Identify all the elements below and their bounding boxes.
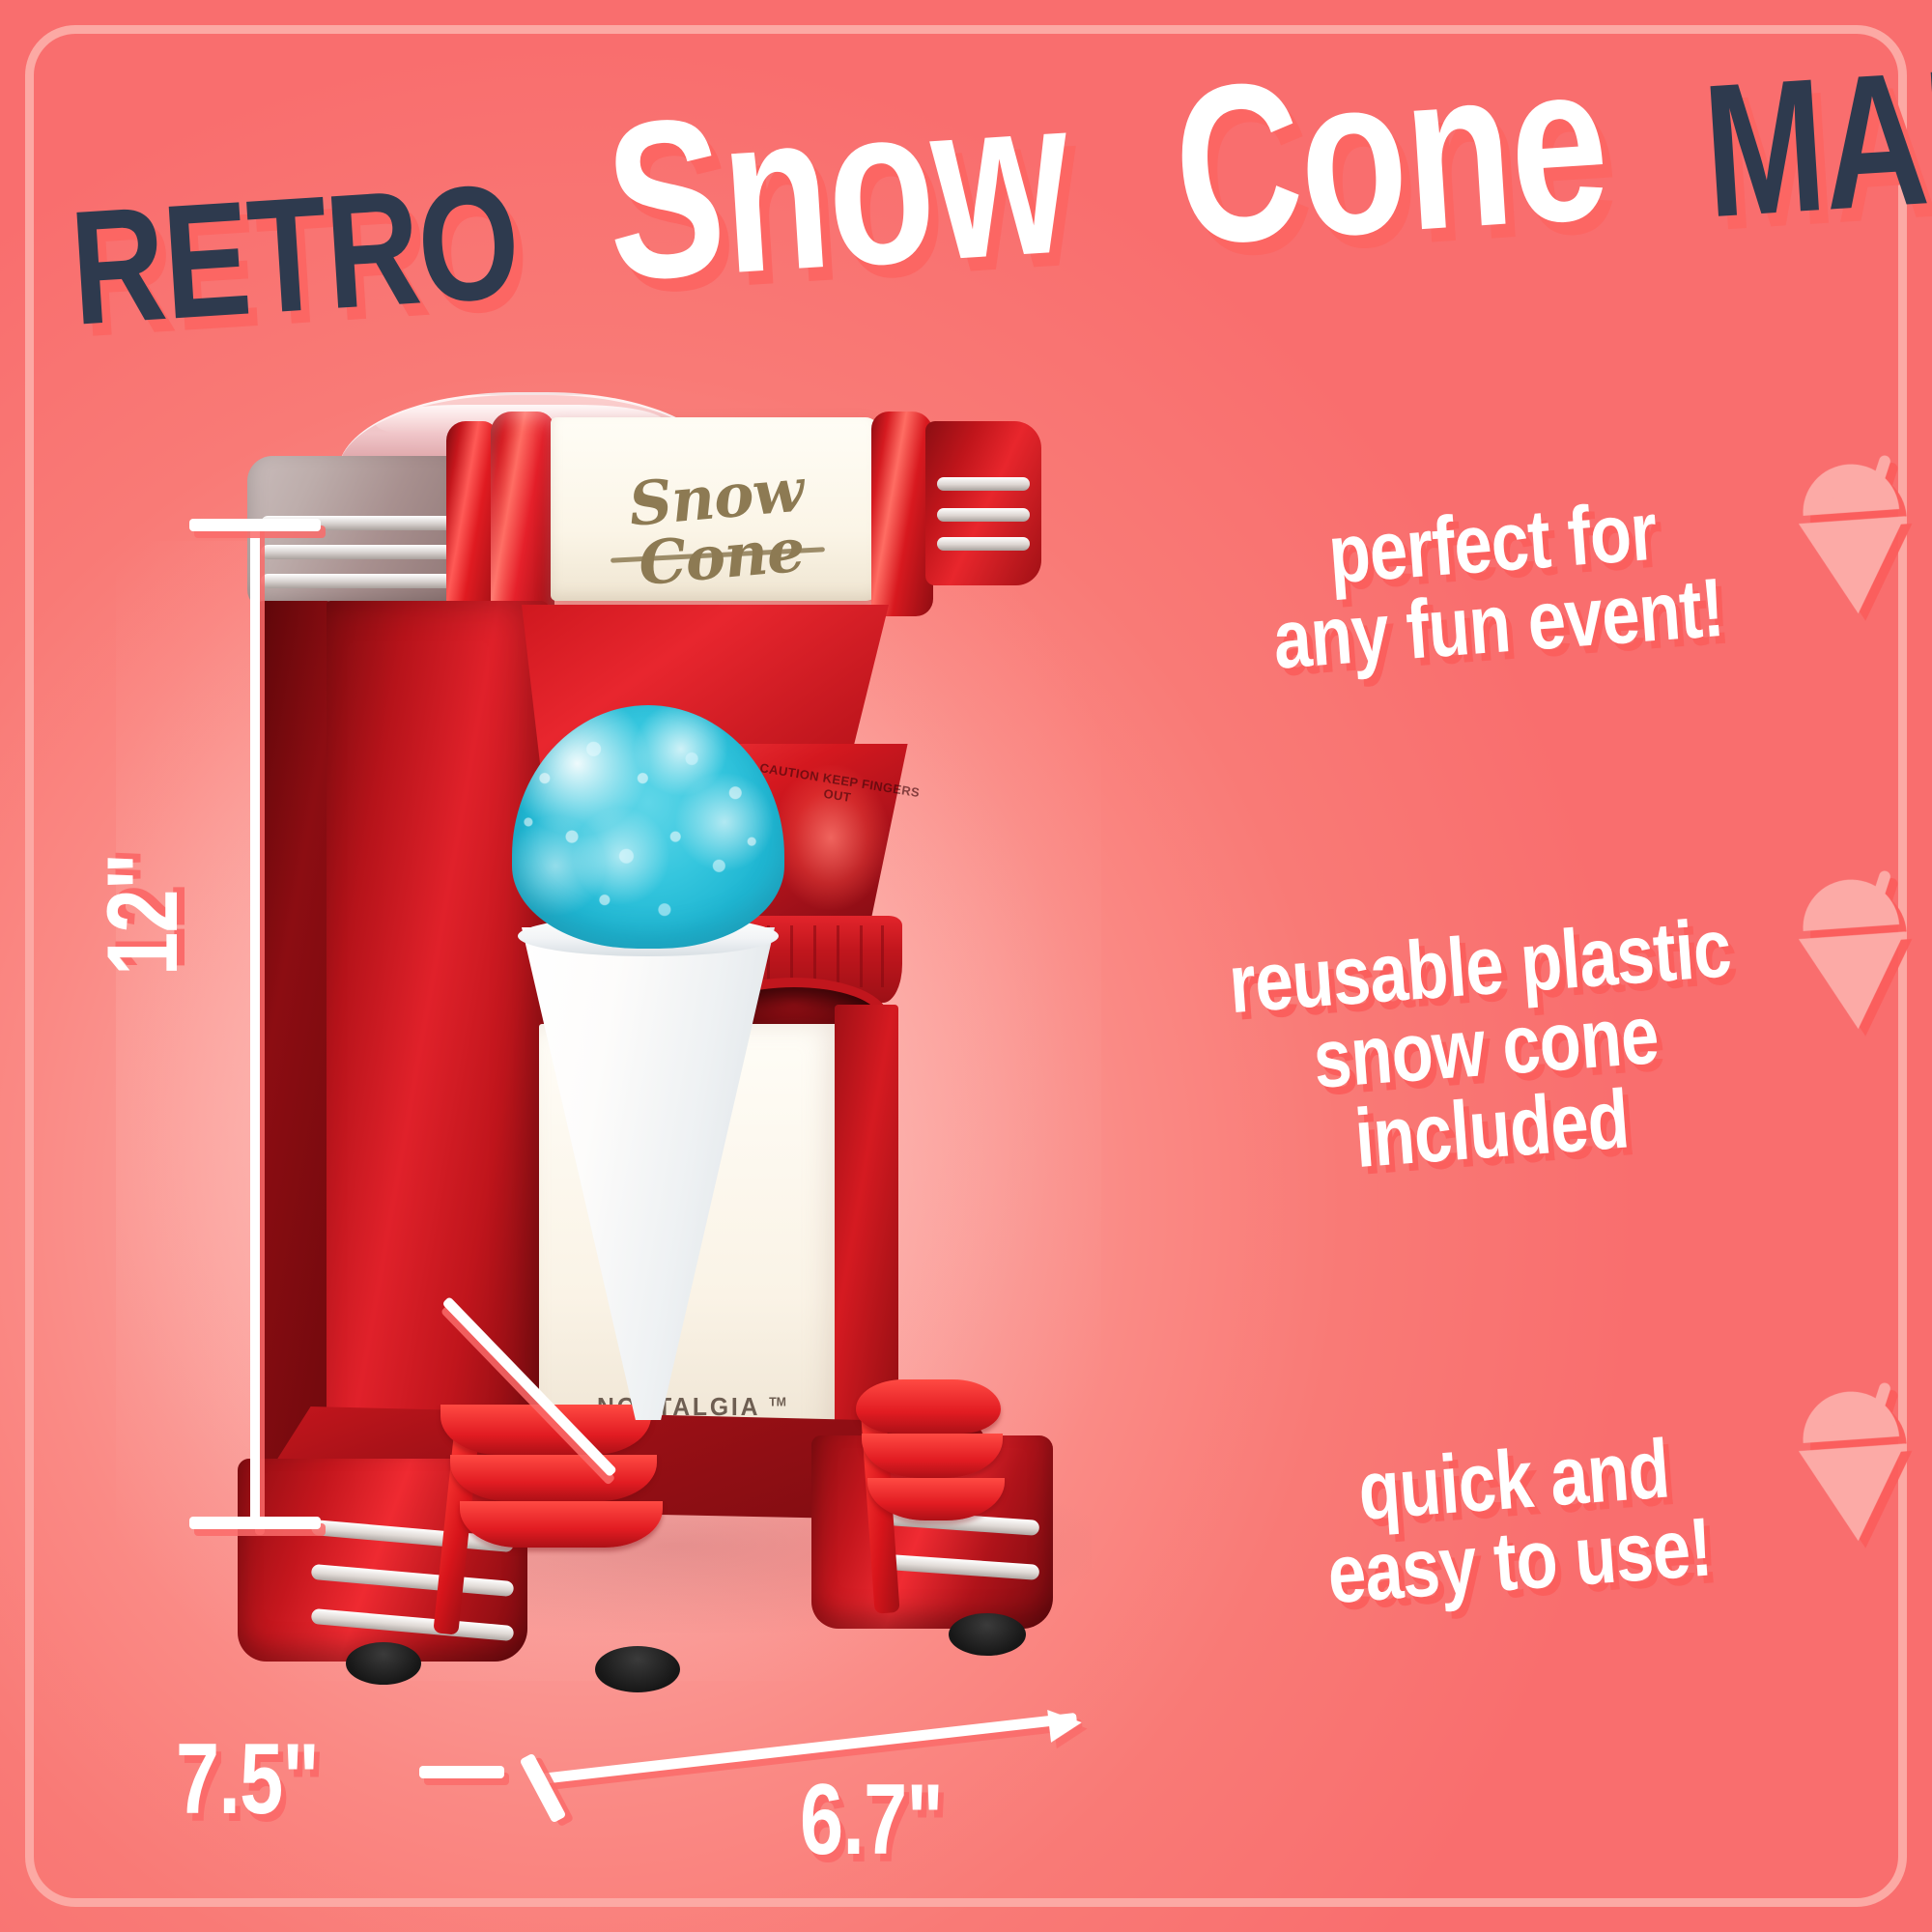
- cone-holder-fin: [460, 1501, 663, 1548]
- dimension-cap-bottom: [189, 1517, 321, 1529]
- headline-word-snow: Snow: [601, 63, 1074, 315]
- snow-cone-icon: [1783, 866, 1921, 1037]
- head-left-panel: [247, 456, 465, 611]
- dimension-label-height-text: 12": [93, 854, 193, 976]
- dimension-cap-depth: [419, 1766, 504, 1778]
- headline-word-cone: Cone: [1168, 29, 1612, 280]
- body-back-column: [257, 601, 332, 1470]
- dimension-label-width: 6.7": [800, 1770, 983, 1870]
- feature-text-2: reusable plastic snow cone included: [1169, 903, 1804, 1192]
- rubber-foot: [595, 1646, 680, 1692]
- dimension-cap-top: [189, 519, 321, 531]
- faceplate-brand-script: Snow Cone: [579, 456, 859, 599]
- chrome-stripe: [937, 477, 1030, 491]
- head-red-post: [871, 412, 933, 616]
- chrome-stripe: [261, 574, 459, 588]
- product-image-snow-cone-maker: Snow Cone CAUTION KEEP FINGERS OUT NOSTA…: [232, 386, 1101, 1681]
- cone-holder-left: [435, 1393, 667, 1634]
- head-red-post: [446, 421, 497, 622]
- head-red-post: [491, 412, 554, 626]
- dimension-label-depth-text: 7.5": [176, 1729, 319, 1830]
- dimension-arrow-width: [1047, 1706, 1084, 1743]
- rubber-foot: [346, 1642, 421, 1685]
- cone-holder-fin: [856, 1379, 1001, 1434]
- feature-text-1: perfect for any fun event!: [1181, 480, 1810, 688]
- headline-word-retro: RETRO: [67, 159, 523, 350]
- cone-holder-fin: [450, 1455, 657, 1501]
- rubber-foot: [949, 1613, 1026, 1656]
- body-red-column: [327, 601, 549, 1470]
- cone-holder-right: [856, 1364, 1039, 1605]
- chrome-stripe: [937, 508, 1030, 522]
- chrome-stripe: [261, 545, 459, 559]
- headline-word-maker: MAKER: [1698, 25, 1932, 246]
- product-poster: RETROSnowConeMAKER Snow Cone: [0, 0, 1932, 1932]
- dimension-label-width-text: 6.7": [800, 1770, 943, 1870]
- dimension-cap-width: [520, 1753, 567, 1824]
- page-title: RETROSnowConeMAKER: [63, 12, 1889, 348]
- head-right-panel: [925, 421, 1041, 585]
- dimension-label-depth: 7.5": [176, 1729, 359, 1830]
- dimension-label-height: 12": [93, 819, 193, 976]
- feature-text-3: quick and easy to use!: [1203, 1417, 1832, 1625]
- front-faceplate: Snow Cone: [551, 417, 879, 601]
- dimension-line-height: [250, 522, 260, 1528]
- chrome-stripe: [937, 537, 1030, 551]
